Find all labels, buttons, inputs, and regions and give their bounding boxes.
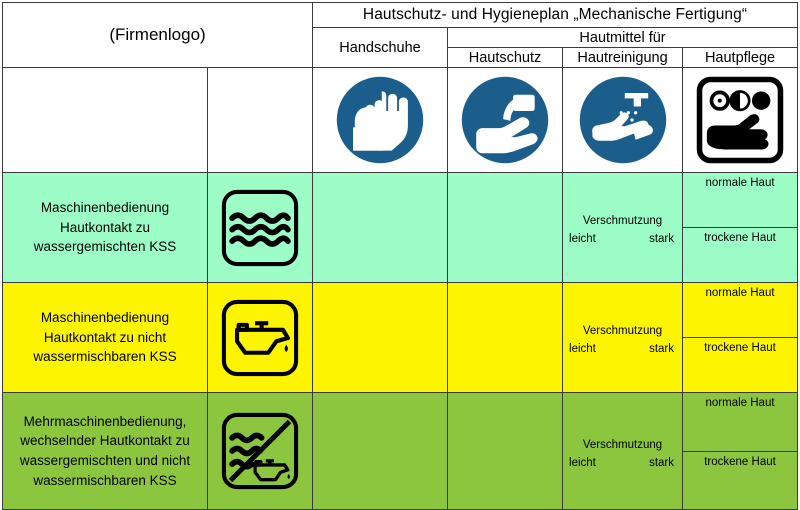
table-row: Maschinenbedienung Hautkontakt zu wasser… bbox=[3, 173, 798, 283]
skin-protection-cream-icon bbox=[460, 75, 550, 165]
desc-line: Mehrmaschinenbedienung, bbox=[3, 412, 207, 432]
normale-haut-label: normale Haut bbox=[683, 283, 797, 338]
table-row: Maschinenbedienung Hautkontakt zu nicht … bbox=[3, 283, 798, 393]
column-header-hautschutz: Hautschutz bbox=[448, 48, 563, 68]
trockene-haut-label: trockene Haut bbox=[683, 338, 797, 393]
skin-protection-plan-table: (Firmenlogo) Hautschutz- und Hygieneplan… bbox=[2, 2, 798, 510]
column-header-handschuhe: Handschuhe bbox=[313, 28, 448, 68]
pictogram-cell-hautschutz bbox=[448, 68, 563, 173]
verschmutzung-label: Verschmutzung bbox=[563, 210, 682, 227]
activity-description-1: Maschinenbedienung Hautkontakt zu wasser… bbox=[3, 173, 208, 283]
column-group-hautmittel: Hautmittel für bbox=[448, 28, 798, 48]
column-header-hautpflege: Hautpflege bbox=[683, 48, 798, 68]
desc-line: wassermischbaren KSS bbox=[3, 471, 207, 491]
hautpflege-cell-1: normale Haut trockene Haut bbox=[683, 173, 798, 283]
trockene-haut-label: trockene Haut bbox=[683, 451, 797, 509]
desc-line: Hautkontakt zu bbox=[3, 218, 207, 238]
company-logo-label: (Firmenlogo) bbox=[109, 25, 205, 44]
hazard-symbol-cell-3 bbox=[208, 393, 313, 510]
hautpflege-subtable-1: normale Haut trockene Haut bbox=[683, 173, 797, 282]
table-row: Mehrmaschinenbedienung, wechselnder Haut… bbox=[3, 393, 798, 510]
hautpflege-cell-2: normale Haut trockene Haut bbox=[683, 283, 798, 393]
pictogram-cell-handschuhe bbox=[313, 68, 448, 173]
desc-line: Maschinenbedienung bbox=[3, 308, 207, 328]
verschmutzung-stark-label: stark bbox=[649, 233, 674, 245]
company-logo-area bbox=[3, 68, 208, 173]
hand-washing-icon bbox=[578, 75, 668, 165]
desc-line: wechselnder Hautkontakt zu bbox=[3, 431, 207, 451]
hazard-symbol-cell-1 bbox=[208, 173, 313, 283]
company-logo-cell: (Firmenlogo) bbox=[3, 3, 313, 68]
hautschutz-cell-1 bbox=[448, 173, 563, 283]
water-waves-icon bbox=[219, 187, 301, 269]
oil-can-icon bbox=[219, 297, 301, 379]
header-pictogram-row bbox=[3, 68, 798, 173]
handschuhe-cell-2 bbox=[313, 283, 448, 393]
protective-gloves-icon bbox=[335, 75, 425, 165]
hautpflege-cell-3: normale Haut trockene Haut bbox=[683, 393, 798, 510]
desc-line: Hautkontakt zu nicht bbox=[3, 328, 207, 348]
verschmutzung-leicht-label: leicht bbox=[569, 457, 596, 469]
hautpflege-subtable-3: normale Haut trockene Haut bbox=[683, 393, 797, 509]
hautschutz-cell-2 bbox=[448, 283, 563, 393]
skin-care-hand-icon bbox=[694, 74, 786, 166]
water-waves-and-oil-can-icon bbox=[219, 410, 301, 492]
plan-title: Hautschutz- und Hygieneplan „Mechanische… bbox=[313, 3, 798, 28]
hautpflege-subtable-2: normale Haut trockene Haut bbox=[683, 283, 797, 392]
handschuhe-cell-1 bbox=[313, 173, 448, 283]
desc-line: Maschinenbedienung bbox=[3, 198, 207, 218]
hazard-symbol-cell-2 bbox=[208, 283, 313, 393]
logo-spacer-cell bbox=[208, 68, 313, 173]
normale-haut-label: normale Haut bbox=[683, 393, 797, 451]
desc-line: wassergemischten KSS bbox=[3, 237, 207, 257]
skin-protection-plan-sheet: (Firmenlogo) Hautschutz- und Hygieneplan… bbox=[0, 0, 800, 509]
verschmutzung-label: Verschmutzung bbox=[563, 320, 682, 337]
desc-line: wassermischbaren KSS bbox=[3, 347, 207, 367]
verschmutzung-stark-label: stark bbox=[649, 457, 674, 469]
normale-haut-label: normale Haut bbox=[683, 173, 797, 228]
verschmutzung-stark-label: stark bbox=[649, 343, 674, 355]
verschmutzung-label: Verschmutzung bbox=[563, 434, 682, 451]
pictogram-cell-hautreinigung bbox=[563, 68, 683, 173]
hautschutz-cell-3 bbox=[448, 393, 563, 510]
column-header-hautreinigung: Hautreinigung bbox=[563, 48, 683, 68]
verschmutzung-leicht-label: leicht bbox=[569, 233, 596, 245]
pictogram-cell-hautpflege bbox=[683, 68, 798, 173]
header-title-row: (Firmenlogo) Hautschutz- und Hygieneplan… bbox=[3, 3, 798, 28]
verschmutzung-leicht-label: leicht bbox=[569, 343, 596, 355]
trockene-haut-label: trockene Haut bbox=[683, 228, 797, 283]
handschuhe-cell-3 bbox=[313, 393, 448, 510]
activity-description-3: Mehrmaschinenbedienung, wechselnder Haut… bbox=[3, 393, 208, 510]
activity-description-2: Maschinenbedienung Hautkontakt zu nicht … bbox=[3, 283, 208, 393]
hautreinigung-cell-3: Verschmutzung leicht stark bbox=[563, 393, 683, 510]
hautreinigung-cell-2: Verschmutzung leicht stark bbox=[563, 283, 683, 393]
hautreinigung-cell-1: Verschmutzung leicht stark bbox=[563, 173, 683, 283]
desc-line: wassergemischten und nicht bbox=[3, 451, 207, 471]
